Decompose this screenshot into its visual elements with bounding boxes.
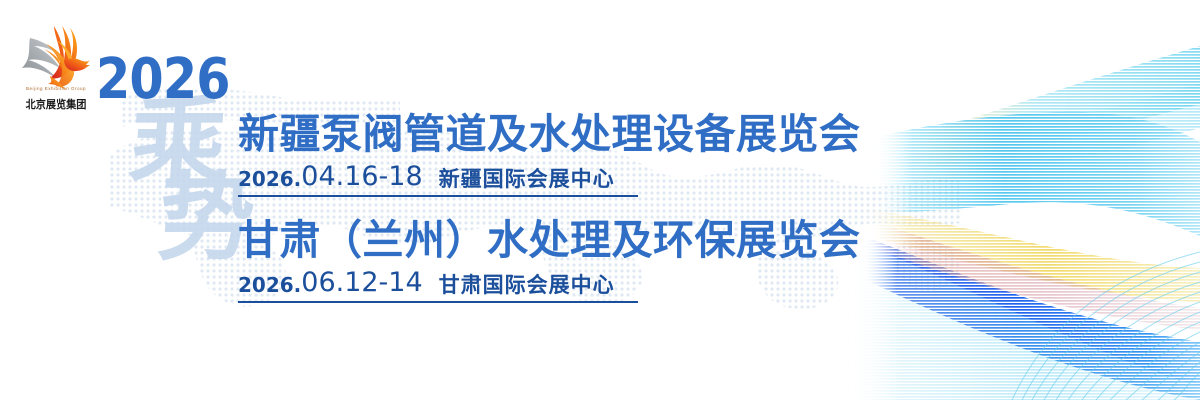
venue-name: 甘肃国际会展中心: [439, 275, 615, 296]
show-title: 甘肃（兰州）水处理及环保展览会: [238, 218, 958, 264]
date-year: 2026.: [238, 169, 301, 189]
year-label: 2026: [96, 52, 230, 108]
venue-name: 新疆国际会展中心: [439, 169, 615, 190]
date-year: 2026.: [238, 275, 301, 295]
date-range: 04.16-18: [301, 163, 422, 190]
logo-pinyin: Beijing Exhibition Group: [16, 86, 96, 91]
show-meta: 2026. 04.16-18 新疆国际会展中心: [238, 163, 638, 197]
expo-banner: 乘 势: [0, 0, 1200, 400]
show-entry-2: 甘肃（兰州）水处理及环保展览会 2026. 06.12-14 甘肃国际会展中心: [238, 218, 958, 303]
organizer-logo[interactable]: Beijing Exhibition Group 北京展览集团: [16, 20, 96, 116]
show-entry-1: 新疆泵阀管道及水处理设备展览会 2026. 04.16-18 新疆国际会展中心: [238, 112, 958, 197]
shows-list: 新疆泵阀管道及水处理设备展览会 2026. 04.16-18 新疆国际会展中心 …: [238, 112, 958, 305]
date-range: 06.12-14: [301, 269, 422, 296]
logo-name: 北京展览集团: [19, 96, 93, 112]
phoenix-bird-icon: [16, 20, 96, 94]
show-title: 新疆泵阀管道及水处理设备展览会: [238, 112, 958, 158]
show-meta: 2026. 06.12-14 甘肃国际会展中心: [238, 269, 638, 303]
